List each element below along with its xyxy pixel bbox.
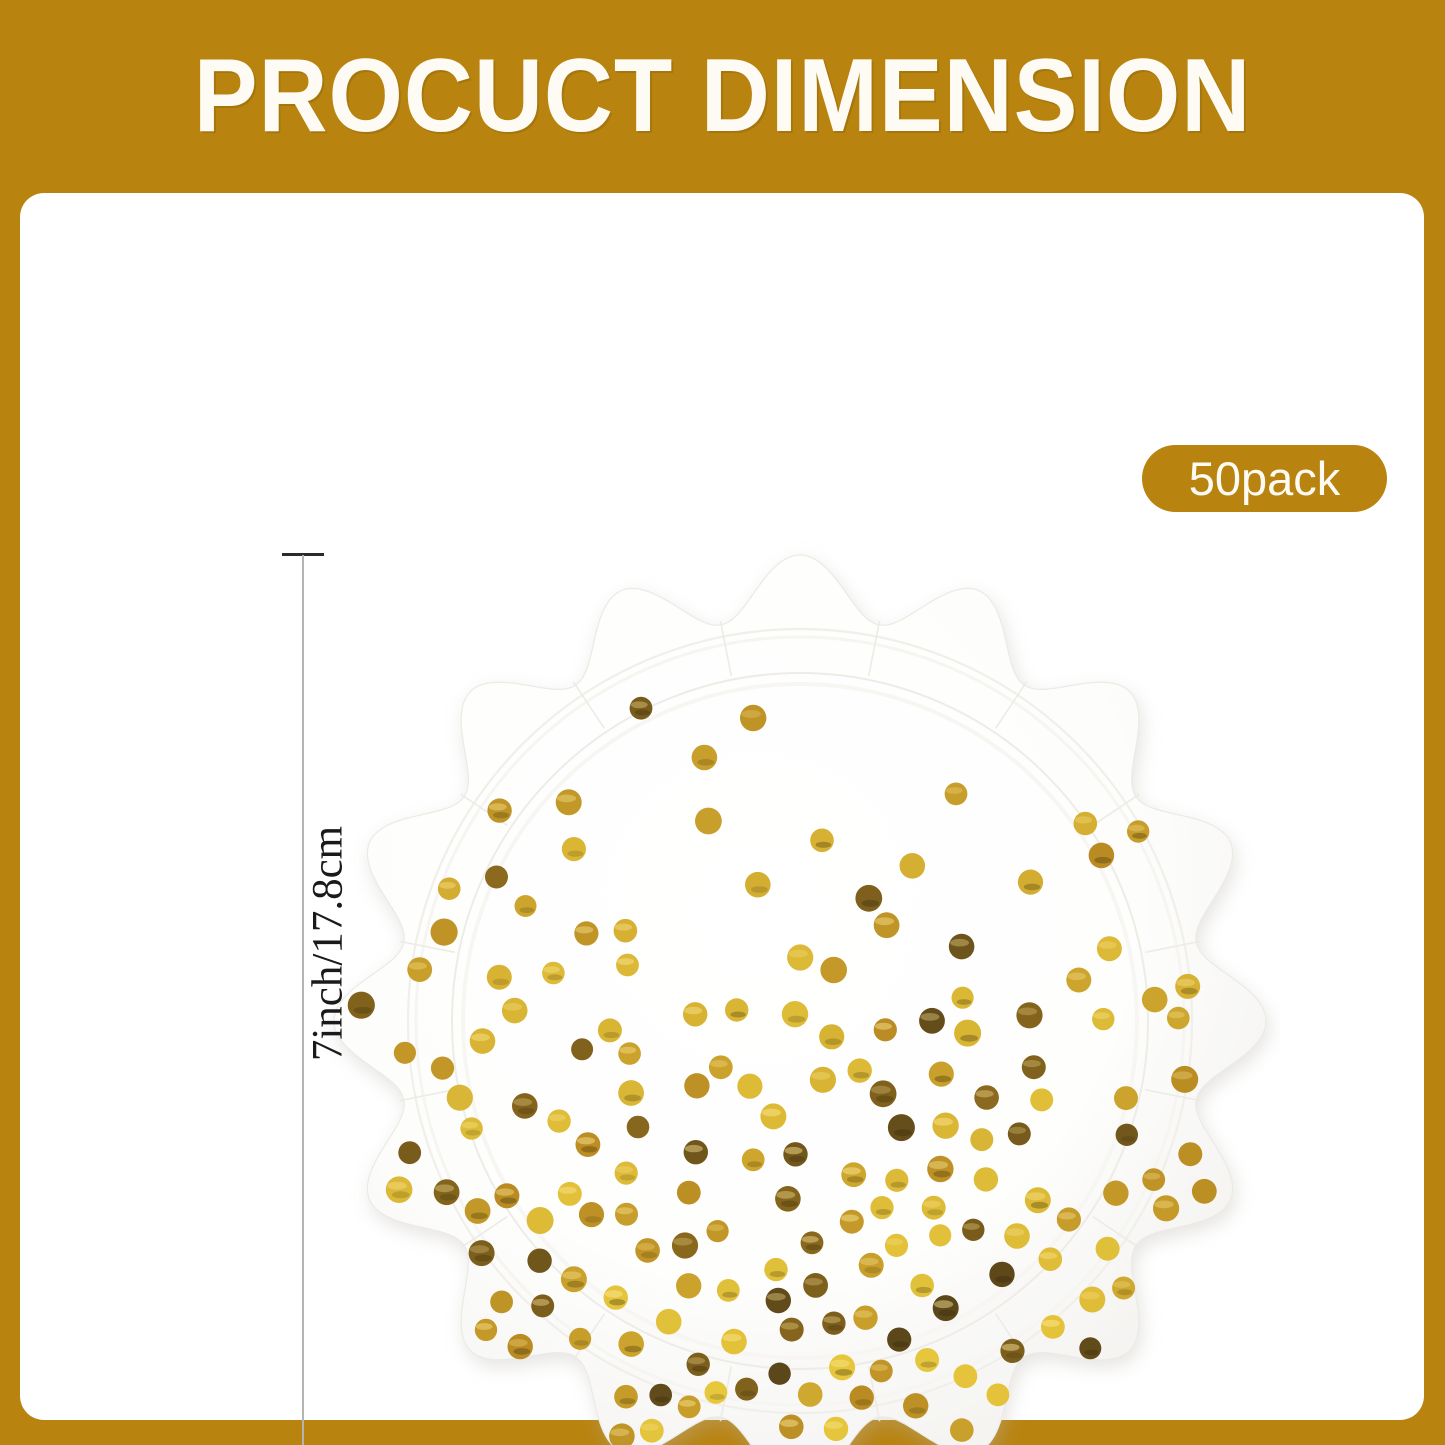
confetti-dot bbox=[903, 1393, 928, 1418]
confetti-dot bbox=[885, 1234, 908, 1257]
confetti-dot bbox=[945, 783, 968, 806]
page-title: PROCUCT DIMENSION bbox=[58, 44, 1387, 148]
confetti-dot bbox=[614, 1385, 638, 1409]
confetti-dot bbox=[487, 965, 512, 990]
confetti-dot bbox=[1008, 1122, 1031, 1145]
confetti-dot bbox=[740, 705, 766, 731]
confetti-dot bbox=[745, 872, 771, 898]
confetti-dot bbox=[630, 697, 653, 720]
confetti-dot bbox=[490, 1291, 513, 1314]
confetti-dot bbox=[386, 1176, 413, 1203]
confetti-dot bbox=[527, 1207, 554, 1234]
confetti-dot bbox=[615, 1203, 638, 1226]
confetti-dot bbox=[760, 1103, 786, 1129]
confetti-dot bbox=[949, 934, 975, 960]
confetti-dot bbox=[687, 1353, 710, 1376]
confetti-dot bbox=[692, 745, 718, 771]
confetti-dot bbox=[922, 1196, 946, 1220]
confetti-dot bbox=[1022, 1055, 1046, 1079]
confetti-dot bbox=[742, 1148, 765, 1171]
product-card: 7inch/17.8cm 50pack bbox=[20, 193, 1424, 1420]
confetti-dot bbox=[810, 829, 834, 853]
confetti-dot bbox=[407, 957, 432, 982]
confetti-dot bbox=[952, 987, 974, 1009]
confetti-dot bbox=[707, 1220, 729, 1242]
confetti-dot bbox=[929, 1062, 954, 1087]
confetti-dot bbox=[779, 1415, 804, 1440]
confetti-dot bbox=[735, 1378, 758, 1401]
confetti-dot bbox=[678, 1395, 701, 1418]
confetti-dot bbox=[618, 1042, 641, 1065]
confetti-dot bbox=[487, 798, 511, 822]
confetti-dot bbox=[394, 1042, 416, 1064]
confetti-dot bbox=[919, 1008, 945, 1034]
confetti-dot bbox=[900, 853, 926, 879]
confetti-dot bbox=[574, 921, 598, 945]
confetti-dot bbox=[508, 1334, 533, 1359]
confetti-dot bbox=[717, 1279, 740, 1302]
confetti-dot bbox=[1097, 936, 1122, 961]
confetti-dot bbox=[798, 1382, 823, 1407]
confetti-dot bbox=[819, 1024, 844, 1049]
confetti-dot bbox=[556, 789, 582, 815]
confetti-dot bbox=[398, 1141, 421, 1164]
paper-plate-icon bbox=[320, 541, 1280, 1445]
confetti-dot bbox=[870, 1360, 893, 1383]
confetti-dot bbox=[470, 1028, 496, 1054]
confetti-dot bbox=[1089, 843, 1115, 869]
confetti-dot bbox=[933, 1295, 959, 1321]
confetti-dot bbox=[1092, 1008, 1114, 1030]
confetti-dot bbox=[709, 1055, 733, 1079]
confetti-dot bbox=[989, 1262, 1014, 1287]
confetti-dot bbox=[855, 885, 882, 912]
confetti-dot bbox=[874, 1018, 897, 1041]
confetti-dot bbox=[615, 1162, 638, 1185]
confetti-dot bbox=[684, 1140, 708, 1164]
confetti-dot bbox=[954, 1020, 981, 1047]
confetti-dot bbox=[1096, 1237, 1120, 1261]
confetti-dot bbox=[888, 1114, 915, 1141]
confetti-dot bbox=[684, 1073, 709, 1098]
confetti-dot bbox=[782, 1001, 808, 1027]
confetti-dot bbox=[1018, 870, 1043, 895]
confetti-dot bbox=[438, 877, 461, 900]
confetti-dot bbox=[494, 1183, 519, 1208]
confetti-dot bbox=[561, 1266, 587, 1292]
confetti-dot bbox=[850, 1385, 874, 1409]
confetti-dot bbox=[431, 919, 458, 946]
confetti-dot bbox=[1103, 1181, 1128, 1206]
confetti-dot bbox=[885, 1169, 908, 1192]
confetti-dot bbox=[1030, 1088, 1053, 1111]
confetti-dot bbox=[640, 1419, 664, 1443]
confetti-dot bbox=[512, 1093, 538, 1119]
confetti-dot bbox=[618, 1080, 644, 1106]
confetti-dot bbox=[1025, 1187, 1051, 1213]
confetti-dot bbox=[695, 808, 722, 835]
confetti-dot bbox=[485, 866, 508, 889]
confetti-dot bbox=[1192, 1179, 1217, 1204]
confetti-dot bbox=[469, 1240, 495, 1266]
confetti-dot bbox=[579, 1202, 604, 1227]
confetti-dot bbox=[1112, 1277, 1135, 1300]
confetti-dot bbox=[962, 1219, 984, 1241]
confetti-dot bbox=[929, 1224, 951, 1246]
confetti-dot bbox=[569, 1328, 591, 1350]
confetti-dot bbox=[1142, 1168, 1165, 1191]
confetti-dot bbox=[558, 1182, 582, 1206]
confetti-dot bbox=[841, 1162, 866, 1187]
confetti-dot bbox=[932, 1113, 958, 1139]
confetti-dot bbox=[571, 1038, 593, 1060]
confetti-dot bbox=[853, 1306, 877, 1330]
confetti-dot bbox=[780, 1318, 804, 1342]
confetti-dot bbox=[542, 962, 565, 985]
confetti-dot bbox=[460, 1117, 482, 1139]
confetti-dot bbox=[870, 1196, 893, 1219]
confetti-dot bbox=[1127, 820, 1149, 842]
dimension-label: 7inch/17.8cm bbox=[304, 794, 353, 1094]
confetti-dot bbox=[954, 1364, 978, 1388]
confetti-dot bbox=[1114, 1086, 1138, 1110]
confetti-dot bbox=[848, 1058, 872, 1082]
confetti-dot bbox=[1167, 1007, 1190, 1030]
confetti-dot bbox=[635, 1238, 660, 1263]
confetti-dot bbox=[1057, 1207, 1081, 1231]
confetti-dot bbox=[810, 1067, 836, 1093]
confetti-dot bbox=[649, 1384, 672, 1407]
confetti-dot bbox=[618, 1331, 644, 1357]
pack-count-badge: 50pack bbox=[1142, 445, 1387, 512]
confetti-dot bbox=[1153, 1195, 1179, 1221]
confetti-dot bbox=[1016, 1002, 1042, 1028]
confetti-dot bbox=[768, 1363, 790, 1385]
confetti-dot bbox=[783, 1142, 807, 1166]
confetti-dot bbox=[531, 1294, 554, 1317]
confetti-dot bbox=[656, 1309, 682, 1335]
confetti-dot bbox=[764, 1258, 787, 1281]
product-dimension-infographic: PROCUCT DIMENSION bbox=[0, 0, 1445, 1445]
confetti-dot bbox=[1000, 1339, 1024, 1363]
confetti-dot bbox=[820, 957, 847, 984]
confetti-dot bbox=[1079, 1287, 1105, 1313]
confetti-dot bbox=[1175, 974, 1200, 999]
confetti-dot bbox=[840, 1210, 864, 1234]
confetti-dot bbox=[974, 1167, 998, 1191]
confetti-dot bbox=[604, 1285, 628, 1309]
confetti-dot bbox=[614, 919, 638, 943]
confetti-dot bbox=[1178, 1142, 1202, 1166]
confetti-dot bbox=[683, 1002, 707, 1026]
confetti-dot bbox=[672, 1232, 698, 1258]
confetti-dot bbox=[803, 1273, 828, 1298]
confetti-dot bbox=[502, 998, 528, 1024]
confetti-dot bbox=[1039, 1247, 1063, 1271]
confetti-dot bbox=[1116, 1124, 1138, 1146]
confetti-dot bbox=[527, 1249, 551, 1273]
confetti-dot bbox=[721, 1329, 747, 1355]
confetti-dot bbox=[859, 1253, 884, 1278]
confetti-dot bbox=[465, 1198, 491, 1224]
confetti-dot bbox=[1142, 987, 1168, 1013]
confetti-dot bbox=[915, 1348, 939, 1372]
confetti-dot bbox=[447, 1085, 473, 1111]
confetti-dot bbox=[1066, 968, 1091, 993]
confetti-dot bbox=[677, 1181, 701, 1205]
confetti-dot bbox=[822, 1312, 845, 1335]
confetti-dot bbox=[676, 1273, 701, 1298]
confetti-dot bbox=[970, 1128, 993, 1151]
confetti-dot bbox=[562, 837, 586, 861]
confetti-dot bbox=[801, 1231, 824, 1254]
confetti-dot bbox=[775, 1186, 801, 1212]
confetti-dot bbox=[737, 1074, 762, 1099]
confetti-dot bbox=[705, 1381, 728, 1404]
confetti-dot bbox=[927, 1156, 953, 1182]
plate-illustration bbox=[320, 541, 1280, 1445]
confetti-dot bbox=[910, 1274, 934, 1298]
confetti-dot bbox=[515, 895, 537, 917]
confetti-dot bbox=[1171, 1066, 1198, 1093]
confetti-dot bbox=[1074, 812, 1098, 836]
confetti-dot bbox=[431, 1057, 454, 1080]
confetti-dot bbox=[829, 1354, 855, 1380]
confetti-dot bbox=[787, 944, 813, 970]
confetti-dot bbox=[1079, 1337, 1101, 1359]
confetti-dot bbox=[887, 1328, 911, 1352]
confetti-dot bbox=[987, 1383, 1010, 1406]
confetti-dot bbox=[616, 954, 639, 977]
confetti-dot bbox=[870, 1080, 897, 1107]
confetti-dot bbox=[576, 1132, 601, 1157]
confetti-dot bbox=[1041, 1315, 1065, 1339]
confetti-dot bbox=[627, 1116, 650, 1139]
confetti-dot bbox=[547, 1109, 570, 1132]
confetti-dot bbox=[725, 998, 748, 1021]
confetti-dot bbox=[824, 1417, 848, 1441]
confetti-dot bbox=[974, 1085, 999, 1110]
confetti-dot bbox=[950, 1418, 974, 1442]
confetti-dot bbox=[598, 1018, 622, 1042]
confetti-dot bbox=[475, 1319, 497, 1341]
confetti-dot bbox=[874, 912, 900, 938]
confetti-dot bbox=[434, 1179, 460, 1205]
confetti-dot bbox=[766, 1288, 791, 1313]
confetti-dot bbox=[1004, 1223, 1030, 1249]
